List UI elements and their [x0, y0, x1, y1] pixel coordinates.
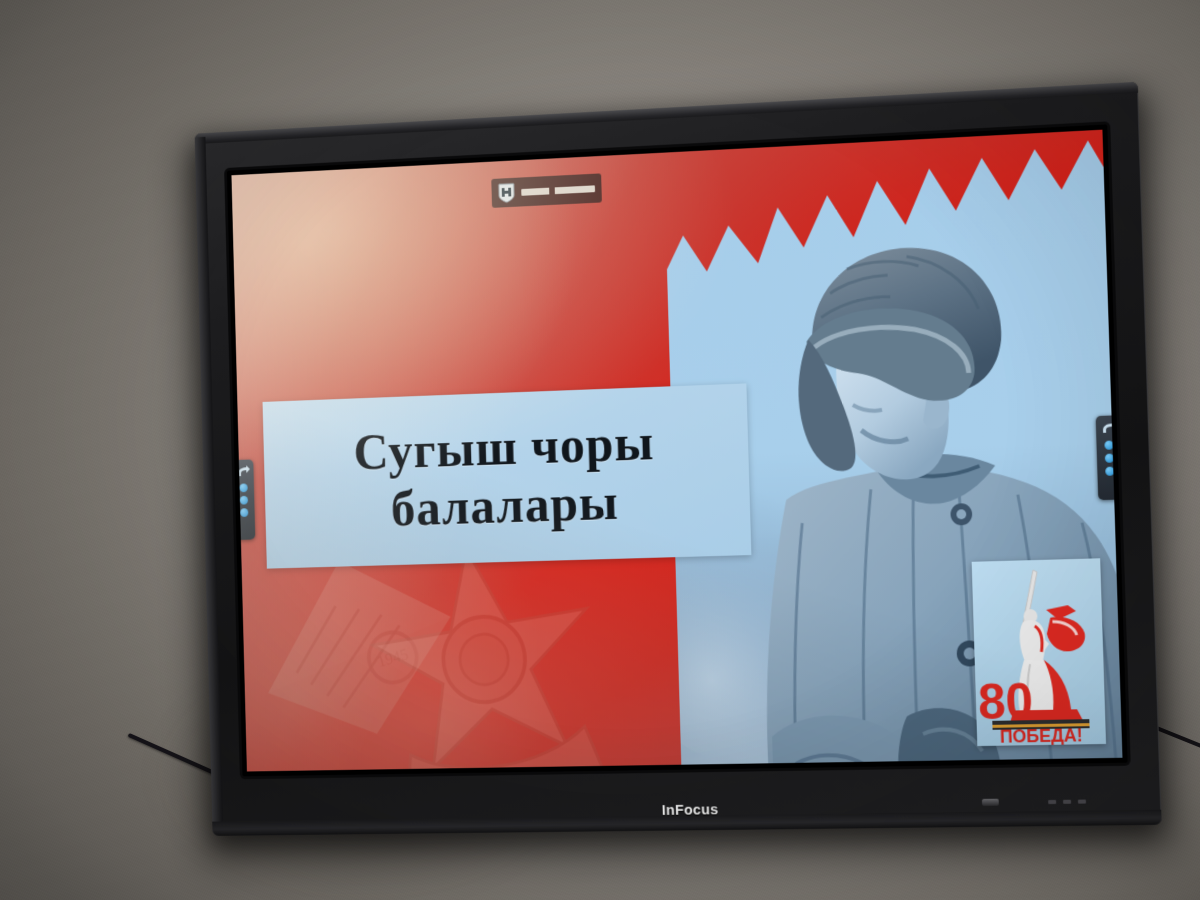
overlay-watermark-chip — [491, 173, 602, 208]
badge-caption: ПОБЕДА! — [1000, 725, 1083, 746]
ir-sensor — [982, 799, 999, 806]
toolbar-dot-2[interactable] — [239, 496, 247, 505]
motherland-calls-statue-icon: 80 ПОБЕДА! — [972, 558, 1106, 746]
overlay-watermark-text — [521, 185, 595, 195]
slide-title-plate: Сугыш чоры балалары — [263, 383, 752, 568]
back-arrow-icon[interactable] — [1099, 419, 1116, 437]
toolbar-dot-2[interactable] — [1104, 454, 1113, 463]
toolbar-dot-1[interactable] — [1104, 441, 1113, 450]
menu-key[interactable] — [1048, 800, 1056, 804]
victory-80-badge: 80 ПОБЕДА! — [972, 558, 1106, 746]
title-line-2: балалары — [390, 474, 619, 539]
toolbar-dot-1[interactable] — [239, 483, 247, 492]
side-toolbar-left[interactable] — [232, 459, 256, 540]
power-key[interactable] — [1078, 800, 1086, 804]
infocus-logo: InFocus — [662, 801, 719, 818]
bezel-key-group[interactable] — [1048, 800, 1086, 805]
screen-frame: 1945 — [227, 124, 1128, 776]
side-toolbar-right[interactable] — [1096, 415, 1123, 500]
screen[interactable]: 1945 — [231, 130, 1122, 772]
interactive-display-panel[interactable]: InFocus — [195, 82, 1162, 836]
toolbar-dot-3[interactable] — [1105, 467, 1114, 476]
toolbar-dot-3[interactable] — [240, 508, 248, 517]
title-line-1: Сугыш чоры — [353, 414, 655, 482]
presentation-slide: 1945 — [231, 130, 1122, 772]
source-key[interactable] — [1063, 800, 1071, 804]
emblem-shield-icon — [498, 182, 515, 203]
room-scene: InFocus — [0, 0, 1200, 900]
back-arrow-icon[interactable] — [235, 463, 251, 480]
panel-chassis: InFocus — [195, 82, 1162, 836]
